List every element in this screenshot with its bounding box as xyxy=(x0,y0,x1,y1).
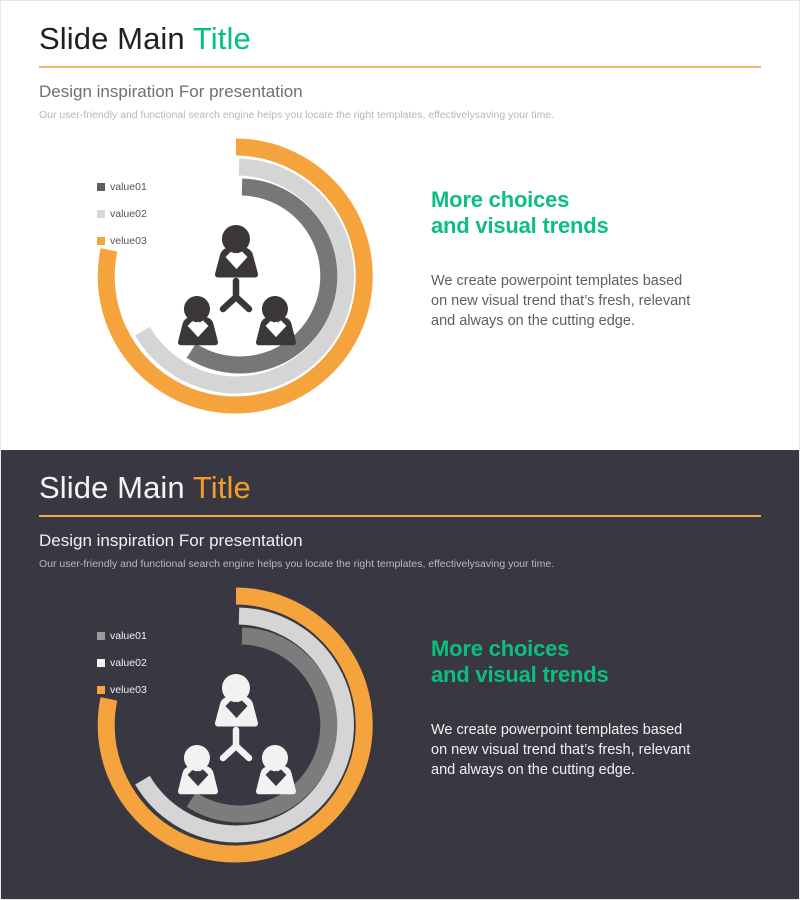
slide-subtitle-light: Design inspiration For presentation xyxy=(39,81,761,103)
title-text-accent: Title xyxy=(193,470,251,505)
page-title-light: Slide Main Title xyxy=(39,19,761,59)
copy-body-line1: We create powerpoint templates based xyxy=(431,722,682,738)
legend-label-value01: value01 xyxy=(110,630,147,642)
copy-body-light: We create powerpoint templates based on … xyxy=(431,271,751,331)
title-text-primary: Slide Main xyxy=(39,470,193,505)
chart-legend-dark: value01 value02 velue03 xyxy=(97,622,147,703)
slide-tagline-light: Our user-friendly and functional search … xyxy=(39,107,761,123)
title-divider-light xyxy=(39,66,761,68)
legend-swatch-value02 xyxy=(97,210,105,218)
legend-item-value02[interactable]: value02 xyxy=(97,200,147,227)
copy-body-line3: and always on the cutting edge. xyxy=(431,762,635,778)
people-group-icon xyxy=(178,674,296,794)
legend-label-velue03: velue03 xyxy=(110,684,147,696)
legend-label-velue03: velue03 xyxy=(110,235,147,247)
copy-heading-line1: More choices xyxy=(431,636,569,661)
people-group-icon xyxy=(178,225,296,345)
slide-dark: Slide Main Title Design inspiration For … xyxy=(0,450,800,900)
copy-body-line2: on new visual trend that’s fresh, releva… xyxy=(431,742,690,758)
title-text-primary: Slide Main xyxy=(39,21,193,56)
legend-swatch-value01 xyxy=(97,183,105,191)
slide-header-dark: Slide Main Title Design inspiration For … xyxy=(39,468,761,572)
legend-swatch-value01 xyxy=(97,632,105,640)
legend-item-value01[interactable]: value01 xyxy=(97,622,147,649)
copy-heading-line2: and visual trends xyxy=(431,213,609,238)
legend-item-value01[interactable]: value01 xyxy=(97,173,147,200)
slide-tagline-dark: Our user-friendly and functional search … xyxy=(39,556,761,572)
slide-deck-page: Slide Main Title Design inspiration For … xyxy=(0,0,800,900)
copy-body-line1: We create powerpoint templates based xyxy=(431,273,682,289)
legend-swatch-velue03 xyxy=(97,686,105,694)
slide-light: Slide Main Title Design inspiration For … xyxy=(0,0,800,450)
chart-figure-light: value01 value02 velue03 xyxy=(61,131,391,421)
chart-legend-light: value01 value02 velue03 xyxy=(97,173,147,254)
legend-label-value02: value02 xyxy=(110,208,147,220)
copy-heading-line2: and visual trends xyxy=(431,662,609,687)
page-title-dark: Slide Main Title xyxy=(39,468,761,508)
copy-body-line3: and always on the cutting edge. xyxy=(431,313,635,329)
copy-heading-light: More choices and visual trends xyxy=(431,187,751,239)
legend-item-value02[interactable]: value02 xyxy=(97,649,147,676)
copy-body-dark: We create powerpoint templates based on … xyxy=(431,720,751,780)
title-text-accent: Title xyxy=(193,21,251,56)
legend-label-value02: value02 xyxy=(110,657,147,669)
legend-label-value01: value01 xyxy=(110,181,147,193)
title-divider-dark xyxy=(39,515,761,517)
slide-header-light: Slide Main Title Design inspiration For … xyxy=(39,19,761,123)
copy-body-line2: on new visual trend that’s fresh, releva… xyxy=(431,293,690,309)
legend-swatch-value02 xyxy=(97,659,105,667)
copy-block-light: More choices and visual trends We create… xyxy=(431,187,751,331)
legend-item-velue03[interactable]: velue03 xyxy=(97,227,147,254)
slide-subtitle-dark: Design inspiration For presentation xyxy=(39,530,761,552)
copy-heading-line1: More choices xyxy=(431,187,569,212)
chart-figure-dark: value01 value02 velue03 xyxy=(61,580,391,870)
legend-item-velue03[interactable]: velue03 xyxy=(97,676,147,703)
copy-heading-dark: More choices and visual trends xyxy=(431,636,751,688)
copy-block-dark: More choices and visual trends We create… xyxy=(431,636,751,780)
legend-swatch-velue03 xyxy=(97,237,105,245)
